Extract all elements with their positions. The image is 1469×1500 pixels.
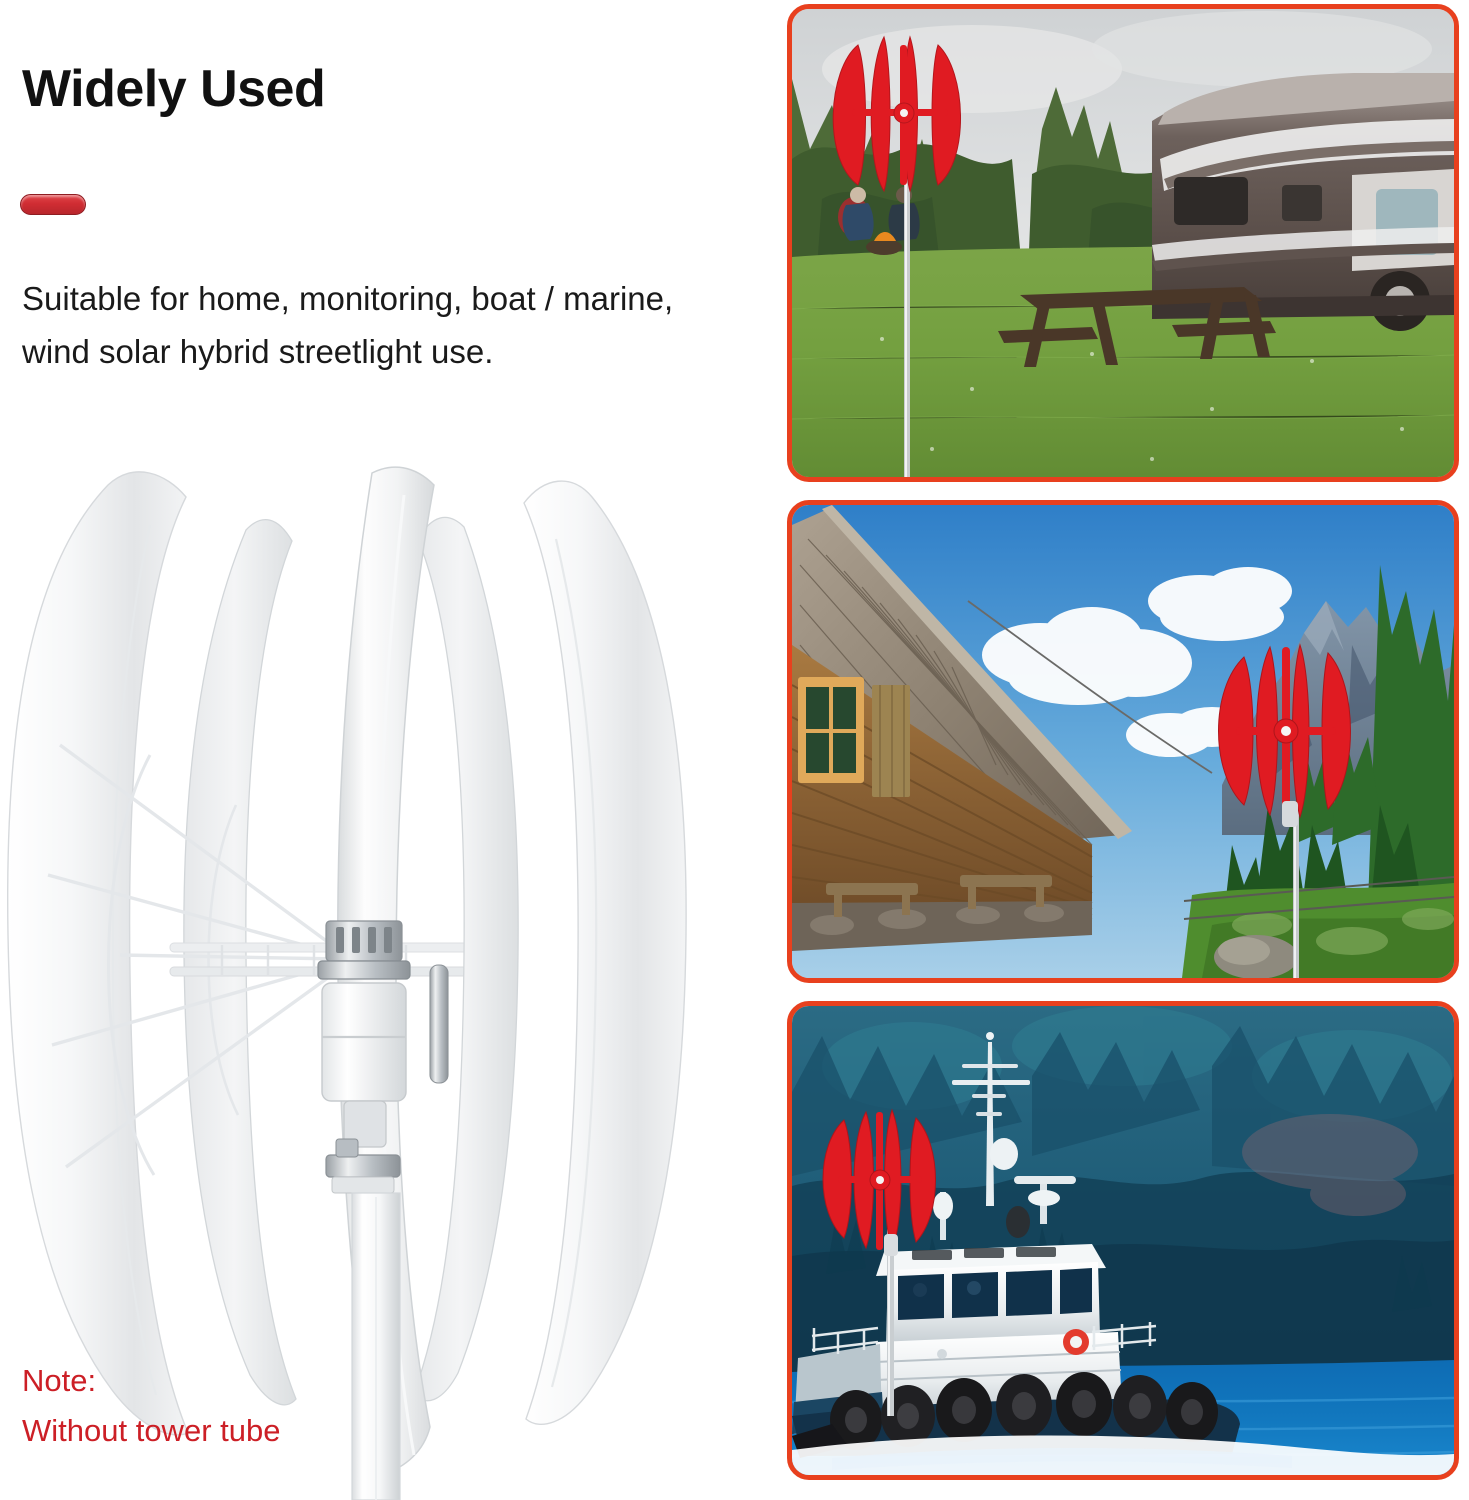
subtitle-text: Suitable for home, monitoring, boat / ma… — [22, 272, 742, 379]
turbine-side-clamp-rod — [430, 965, 448, 1083]
product-image-wind-turbine — [0, 455, 700, 1500]
left-text-column: Widely Used Suitable for home, monitorin… — [0, 0, 782, 1500]
accent-bar-divider — [20, 194, 86, 215]
page-title: Widely Used — [22, 62, 325, 117]
photo-tugboat — [787, 1001, 1459, 1480]
product-feature-page: Widely Used Suitable for home, monitorin… — [0, 0, 1469, 1500]
note-block: Note: Without tower tube — [22, 1356, 280, 1456]
turbine-mast-pole — [352, 1193, 400, 1500]
turbine-top-clamp — [318, 921, 410, 979]
note-text: Without tower tube — [22, 1406, 280, 1456]
turbine-blade-inner-right — [414, 517, 518, 1400]
cabin-window — [798, 677, 864, 783]
turbine-blade-outer-right — [524, 481, 686, 1424]
turbine-blade-inner-left — [184, 520, 296, 1405]
turbine-blade-outer-left — [8, 472, 188, 1435]
photo-rv-campsite — [787, 4, 1459, 482]
photo-gallery — [787, 4, 1459, 1484]
boulder — [1214, 935, 1298, 978]
photo-log-cabin — [787, 500, 1459, 983]
note-label: Note: — [22, 1356, 280, 1406]
